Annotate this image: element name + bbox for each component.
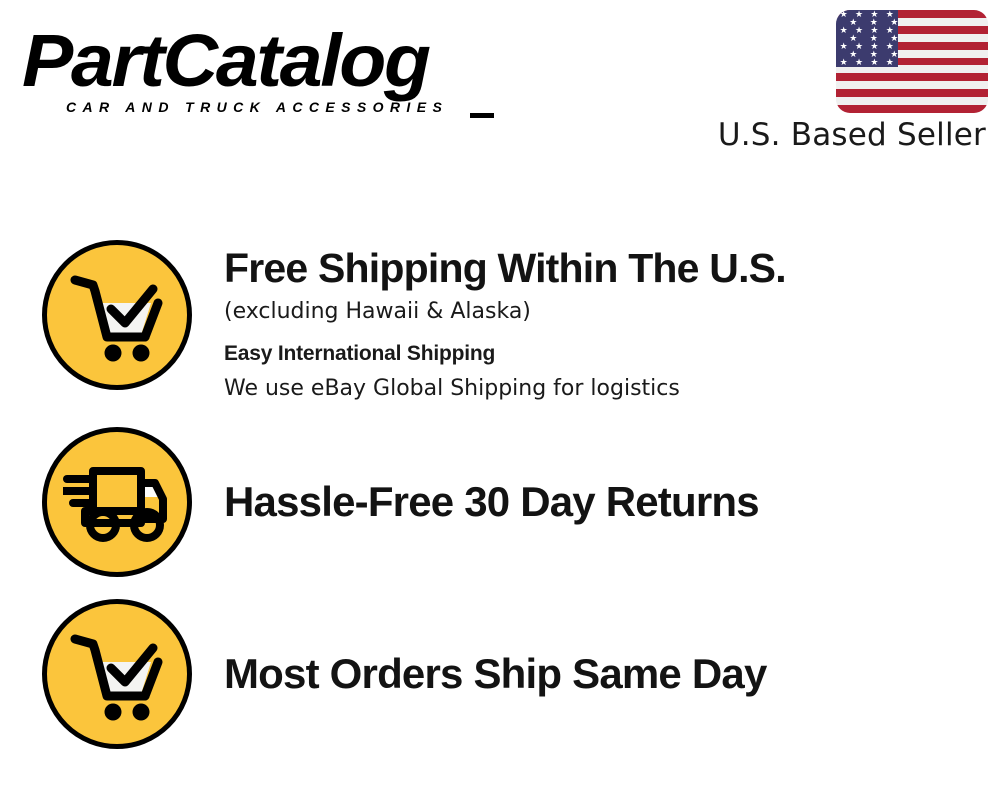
shopping-cart-check-icon (42, 599, 192, 749)
promo-banner: PartCatalog CAR AND TRUCK ACCESSORIES ★★… (0, 0, 1000, 800)
feature-subdetail: We use eBay Global Shipping for logistic… (224, 373, 1000, 405)
feature-title: Most Orders Ship Same Day (224, 650, 1000, 698)
us-flag-badge: ★★★★ ★★★ ★★★★ ★★★ ★★★★ ★★★ ★★★★ (836, 10, 988, 113)
feature-subheading: Easy International Shipping (224, 338, 1000, 369)
flag-canton: ★★★★ ★★★ ★★★★ ★★★ ★★★★ ★★★ ★★★★ (836, 10, 898, 67)
feature-title: Hassle-Free 30 Day Returns (224, 478, 1000, 526)
brand-logo: PartCatalog CAR AND TRUCK ACCESSORIES (22, 24, 492, 124)
feature-subnote: (excluding Hawaii & Alaska) (224, 296, 1000, 328)
feature-row: Hassle-Free 30 Day Returns (0, 427, 1000, 577)
feature-text-block: Free Shipping Within The U.S. (excluding… (192, 240, 1000, 405)
logo-underline-mark (470, 113, 494, 118)
feature-text-block: Hassle-Free 30 Day Returns (192, 427, 1000, 577)
us-based-seller-label: U.S. Based Seller (718, 118, 986, 152)
us-flag-icon: ★★★★ ★★★ ★★★★ ★★★ ★★★★ ★★★ ★★★★ (836, 10, 988, 113)
shopping-cart-check-icon (42, 240, 192, 390)
feature-row: Most Orders Ship Same Day (0, 599, 1000, 749)
feature-row: Free Shipping Within The U.S. (excluding… (0, 240, 1000, 405)
delivery-truck-icon (42, 427, 192, 577)
feature-list: Free Shipping Within The U.S. (excluding… (0, 240, 1000, 771)
feature-title: Free Shipping Within The U.S. (224, 244, 1000, 292)
feature-text-block: Most Orders Ship Same Day (192, 599, 1000, 749)
brand-wordmark: PartCatalog (22, 24, 511, 98)
